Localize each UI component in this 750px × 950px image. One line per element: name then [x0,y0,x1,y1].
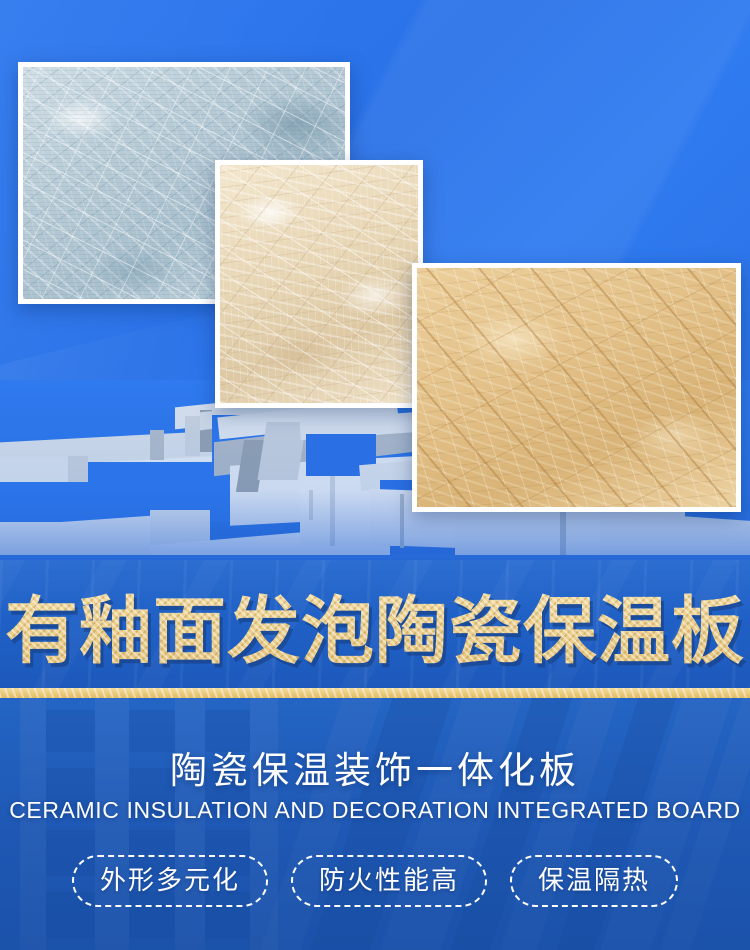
feature-badge-3[interactable]: 保温隔热 [510,855,678,907]
feature-badge-list: 外形多元化 防火性能高 保温隔热 [0,855,750,907]
subtitle-english: CERAMIC INSULATION AND DECORATION INTEGR… [0,797,750,824]
product-tile-2[interactable] [215,160,423,408]
feature-badge-1[interactable]: 外形多元化 [72,855,268,907]
feature-badge-2[interactable]: 防火性能高 [291,855,487,907]
product-banner: 有釉面发泡陶瓷保温板 陶瓷保温装饰一体化板 CERAMIC INSULATION… [0,0,750,950]
product-tile-3[interactable] [412,263,741,512]
subtitle-chinese: 陶瓷保温装饰一体化板 [0,740,750,794]
building-photo-bottom [0,698,750,950]
gold-divider [0,688,750,698]
page-title: 有釉面发泡陶瓷保温板 [0,560,750,690]
golden-tan-marble-texture [417,268,736,507]
cream-travertine-texture [220,165,418,403]
